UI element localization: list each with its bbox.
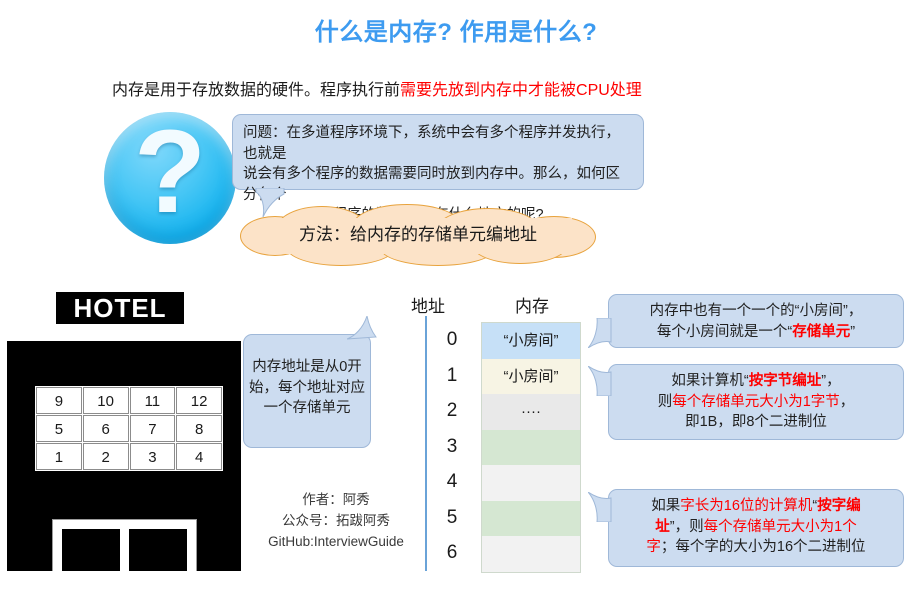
byte-size-highlight: 每个存储单元大小为1字节: [672, 394, 840, 410]
subtitle-black-part: 内存是用于存放数据的硬件。程序执行前: [112, 82, 400, 99]
vertical-divider: [425, 316, 427, 571]
byte-addressing-callout-tail: [588, 366, 612, 396]
page-title: 什么是内存? 作用是什么?: [0, 12, 912, 47]
question-callout-line1: 问题：在多道程序环境下，系统中会有多个程序并发执行，也就是: [243, 123, 633, 164]
address-callout-tail: [347, 316, 377, 340]
byte-addressing-line2: 则每个存储单元大小为1字节，: [609, 392, 903, 413]
method-cloud-text: 方法：给内存的存储单元编地址: [240, 220, 596, 245]
credits: 作者：阿秀 公众号：拓跋阿秀 GitHub:InterviewGuide: [248, 490, 424, 553]
slide-canvas: 什么是内存? 作用是什么? 内存是用于存放数据的硬件。程序执行前需要先放到内存中…: [0, 0, 912, 590]
word-addressing-line1: 如果字长为16位的计算机“按字编: [609, 496, 903, 517]
hotel-room: 5: [36, 415, 82, 442]
subtitle: 内存是用于存放数据的硬件。程序执行前需要先放到内存中才能被CPU处理: [112, 76, 812, 100]
question-callout: 问题：在多道程序环境下，系统中会有多个程序并发执行，也就是 说会有多个程序的数据…: [232, 114, 644, 190]
byte-addressing-line1: 如果计算机“按字节编址”，: [609, 371, 903, 392]
byte-addressing-highlight: 按字节编址: [749, 373, 822, 389]
byte-addressing-callout: 如果计算机“按字节编址”， 则每个存储单元大小为1字节， 即1B，即8个二进制位: [608, 364, 904, 440]
hotel-room: 2: [83, 443, 129, 470]
memory-column-header: 内存: [480, 292, 584, 317]
address-callout-line2: 始，每个地址对应: [244, 378, 370, 399]
hotel-room: 9: [36, 387, 82, 414]
word-line2-b: ”，则: [670, 519, 704, 535]
memory-cell: “小房间”: [482, 359, 580, 395]
word-addressing-highlight-a: 按字编: [817, 498, 861, 514]
address-value: 1: [432, 358, 472, 394]
hotel-room-grid: 9 10 11 12 5 6 7 8 1 2 3 4: [35, 386, 223, 471]
word-addressing-line3: 字；每个字的大小为16个二进制位: [609, 537, 903, 558]
word-line1-a: 如果: [651, 498, 680, 514]
storage-unit-callout: 内存中也有一个一个的“小房间”， 每个小房间就是一个“存储单元”: [608, 294, 904, 348]
address-value: 4: [432, 464, 472, 500]
question-callout-line2: 说会有多个程序的数据需要同时放到内存中。那么，如何区分各个: [243, 164, 633, 205]
memory-column: “小房间” “小房间” ····: [481, 322, 581, 573]
hotel-room: 6: [83, 415, 129, 442]
byte-addressing-line3: 即1B，即8个二进制位: [609, 412, 903, 433]
hotel-room: 11: [130, 387, 176, 414]
memory-cell: ····: [482, 394, 580, 430]
storage-unit-highlight: 存储单元: [792, 324, 850, 340]
hotel-door-left: [62, 529, 120, 571]
hotel-room: 7: [130, 415, 176, 442]
storage-unit-line2-a: 每个小房间就是一个“: [657, 324, 792, 340]
address-value: 2: [432, 393, 472, 429]
address-explanation-callout: 内存地址是从0开 始，每个地址对应 一个存储单元: [243, 334, 371, 448]
credit-github: GitHub:InterviewGuide: [248, 532, 424, 553]
address-column: 0 1 2 3 4 5 6: [432, 322, 472, 571]
word-addressing-line2: 址”，则每个存储单元大小为1个: [609, 517, 903, 538]
address-value: 5: [432, 500, 472, 536]
word-addressing-highlight-b: 址: [655, 519, 670, 535]
memory-cell: “小房间”: [482, 323, 580, 359]
subtitle-red-part: 需要先放到内存中才能被CPU处理: [400, 82, 642, 99]
memory-cell: [482, 536, 580, 572]
hotel-room: 10: [83, 387, 129, 414]
credit-wechat: 公众号：拓跋阿秀: [248, 511, 424, 532]
byte-line1-a: 如果计算机“: [671, 373, 748, 389]
memory-cell: [482, 501, 580, 537]
hotel-room: 1: [36, 443, 82, 470]
address-value: 6: [432, 535, 472, 571]
word-addressing-callout: 如果字长为16位的计算机“按字编 址”，则每个存储单元大小为1个 字；每个字的大…: [608, 489, 904, 567]
question-mark-glyph: ?: [104, 106, 236, 238]
byte-line1-b: ”，: [821, 373, 840, 389]
question-mark-icon: ?: [104, 112, 236, 244]
word-addressing-callout-tail: [588, 492, 612, 522]
storage-unit-callout-tail: [588, 318, 612, 348]
word-length-highlight: 字长为16位的计算机: [680, 498, 812, 514]
address-callout-line1: 内存地址是从0开: [244, 357, 370, 378]
address-column-header: 地址: [400, 292, 456, 317]
word-size-highlight: 每个存储单元大小为1个: [704, 519, 857, 535]
memory-cell: [482, 465, 580, 501]
byte-line2-b: ，: [840, 394, 855, 410]
address-callout-line3: 一个存储单元: [244, 398, 370, 419]
hotel-sign: HOTEL: [56, 292, 184, 324]
byte-line2-a: 则: [658, 394, 673, 410]
word-line3-b: ；每个字的大小为16个二进制位: [661, 539, 866, 555]
hotel-building: 9 10 11 12 5 6 7 8 1 2 3 4: [7, 341, 241, 571]
hotel-room: 8: [176, 415, 222, 442]
storage-unit-line2: 每个小房间就是一个“存储单元”: [609, 322, 903, 343]
address-value: 0: [432, 322, 472, 358]
hotel-room: 12: [176, 387, 222, 414]
memory-cell: [482, 430, 580, 466]
word-char-highlight: 字: [646, 539, 661, 555]
hotel-room: 4: [176, 443, 222, 470]
hotel-entrance: [52, 519, 197, 571]
credit-author: 作者：阿秀: [248, 490, 424, 511]
storage-unit-line1: 内存中也有一个一个的“小房间”，: [609, 301, 903, 322]
storage-unit-line2-b: ”: [850, 324, 855, 340]
hotel-door-right: [129, 529, 187, 571]
hotel-room: 3: [130, 443, 176, 470]
address-value: 3: [432, 429, 472, 465]
